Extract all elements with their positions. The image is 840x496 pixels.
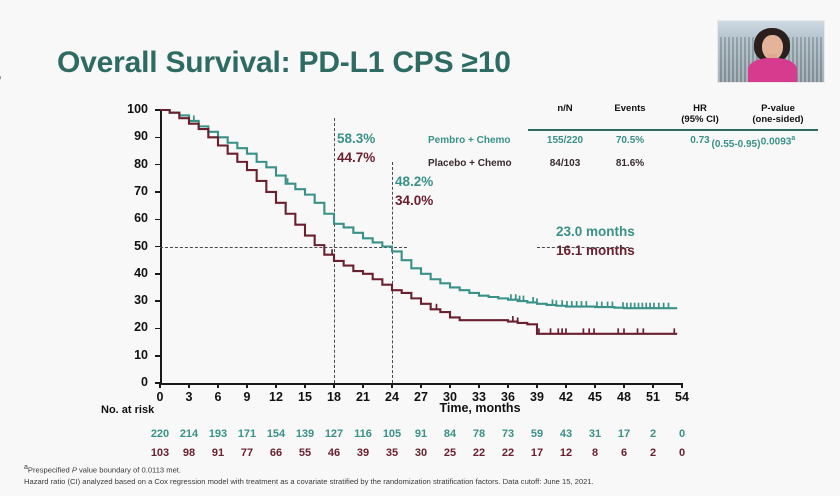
- at-risk-placebo-18mo: 46: [320, 447, 348, 459]
- at-risk-placebo-33mo: 22: [465, 447, 493, 459]
- at-risk-pembro-0mo: 220: [146, 428, 174, 440]
- at-risk-pembro-36mo: 73: [494, 428, 522, 440]
- slide-canvas: Overall Survival: PD-L1 CPS ≥10 n/N Even…: [0, 0, 840, 496]
- at-risk-placebo-15mo: 55: [291, 447, 319, 459]
- annotation-18mo-placebo: 44.7%: [337, 150, 375, 165]
- at-risk-pembro-48mo: 17: [610, 428, 638, 440]
- at-risk-pembro-12mo: 154: [262, 428, 290, 440]
- annotation-24mo-placebo: 34.0%: [395, 193, 433, 208]
- at-risk-placebo-36mo: 22: [494, 447, 522, 459]
- survival-curve-pembro: [160, 110, 677, 308]
- at-risk-placebo-48mo: 6: [610, 447, 638, 459]
- annotation-18mo-pembro: 58.3%: [337, 131, 375, 146]
- footnote-1-pre: Prespecified: [28, 466, 72, 475]
- at-risk-placebo-54mo: 0: [668, 447, 696, 459]
- at-risk-placebo-6mo: 91: [204, 447, 232, 459]
- at-risk-pembro-42mo: 43: [552, 428, 580, 440]
- at-risk-row-pembro: 2202141931711541391271161059184787359433…: [160, 428, 682, 443]
- at-risk-placebo-12mo: 66: [262, 447, 290, 459]
- at-risk-placebo-39mo: 17: [523, 447, 551, 459]
- annotation-median-placebo: 16.1 months: [556, 243, 635, 258]
- at-risk-pembro-6mo: 193: [204, 428, 232, 440]
- annotation-24mo-pembro: 48.2%: [395, 174, 433, 189]
- footnote-1-post: value boundary of 0.0113 met.: [77, 466, 181, 475]
- at-risk-placebo-30mo: 25: [436, 447, 464, 459]
- at-risk-pembro-9mo: 171: [233, 428, 261, 440]
- at-risk-placebo-21mo: 39: [349, 447, 377, 459]
- at-risk-pembro-3mo: 214: [175, 428, 203, 440]
- at-risk-pembro-54mo: 0: [668, 428, 696, 440]
- at-risk-placebo-42mo: 12: [552, 447, 580, 459]
- at-risk-placebo-51mo: 2: [639, 447, 667, 459]
- at-risk-pembro-30mo: 84: [436, 428, 464, 440]
- at-risk-pembro-33mo: 78: [465, 428, 493, 440]
- at-risk-placebo-0mo: 103: [146, 447, 174, 459]
- reference-line-50pct-right: [537, 247, 629, 248]
- at-risk-pembro-15mo: 139: [291, 428, 319, 440]
- at-risk-pembro-51mo: 2: [639, 428, 667, 440]
- footnote-line-1: aPrespecified P value boundary of 0.0113…: [24, 463, 181, 476]
- at-risk-pembro-45mo: 31: [581, 428, 609, 440]
- at-risk-placebo-45mo: 8: [581, 447, 609, 459]
- annotation-median-pembro: 23.0 months: [556, 224, 635, 239]
- at-risk-placebo-9mo: 77: [233, 447, 261, 459]
- at-risk-pembro-39mo: 59: [523, 428, 551, 440]
- at-risk-label: No. at risk: [101, 404, 154, 416]
- at-risk-pembro-21mo: 116: [349, 428, 377, 440]
- kaplan-meier-curves: [0, 0, 840, 496]
- at-risk-placebo-24mo: 35: [378, 447, 406, 459]
- at-risk-pembro-18mo: 127: [320, 428, 348, 440]
- at-risk-placebo-3mo: 98: [175, 447, 203, 459]
- footnote-line-2: Hazard ratio (CI) analyzed based on a Co…: [24, 476, 594, 487]
- at-risk-pembro-24mo: 105: [378, 428, 406, 440]
- at-risk-row-placebo: 10398917766554639353025222217128620: [160, 447, 682, 462]
- at-risk-placebo-27mo: 30: [407, 447, 435, 459]
- at-risk-pembro-27mo: 91: [407, 428, 435, 440]
